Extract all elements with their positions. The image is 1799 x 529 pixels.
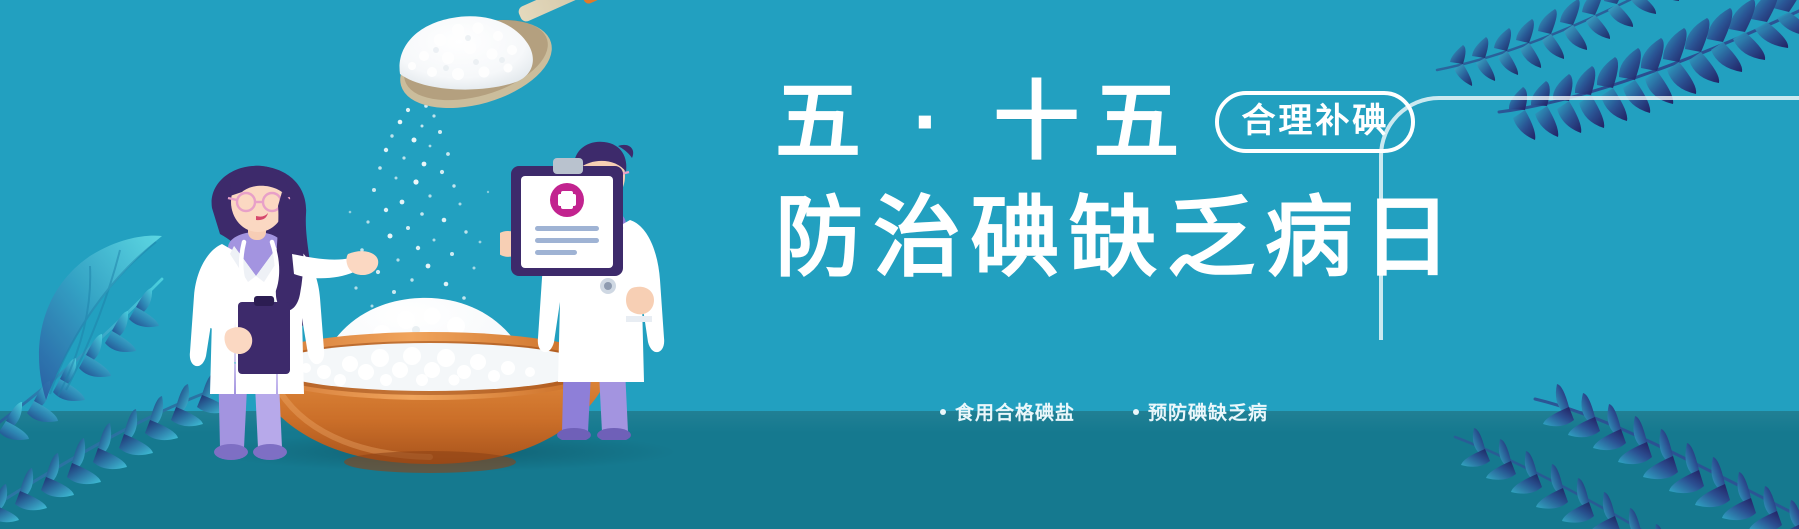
- headline-block: 五 · 十五 合理补碘 防治碘缺乏病日: [775, 74, 1475, 290]
- headline-line-1: 五 · 十五 合理补碘: [775, 74, 1475, 170]
- list-item: 食用合格碘盐: [940, 398, 1075, 425]
- iodine-deficiency-day-banner: 五 · 十五 合理补碘 防治碘缺乏病日 食用合格碘盐 预防碘缺乏病: [0, 0, 1799, 529]
- wooden-spoon-icon: [352, 0, 632, 116]
- bullet-dot-icon: [940, 409, 946, 415]
- slogan-text: 预防碘缺乏病: [1148, 398, 1268, 425]
- slogan-text: 食用合格碘盐: [955, 398, 1075, 425]
- slogan-list: 食用合格碘盐 预防碘缺乏病: [940, 398, 1268, 425]
- medical-chart-clipboard: [505, 156, 635, 286]
- page-title: 防治碘缺乏病日: [775, 186, 1475, 290]
- event-date: 五 · 十五: [775, 74, 1193, 170]
- list-item: 预防碘缺乏病: [1133, 398, 1268, 425]
- slogan-badge: 合理补碘: [1215, 91, 1415, 153]
- bullet-dot-icon: [1133, 409, 1139, 415]
- female-doctor-with-clipboard: [150, 162, 390, 462]
